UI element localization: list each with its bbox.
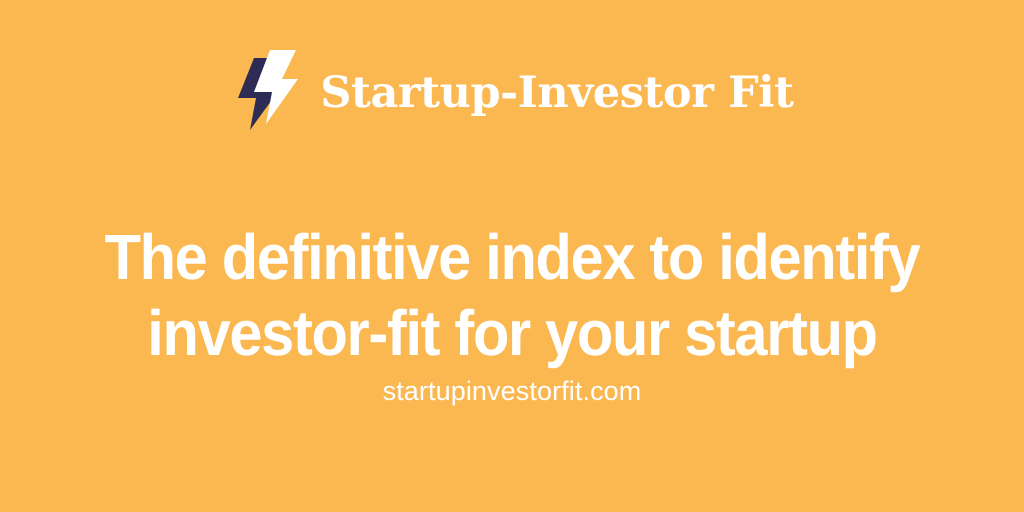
headline-line-2: investor-fit for your startup bbox=[36, 295, 988, 371]
headline-line-1: The definitive index to identify bbox=[36, 219, 988, 295]
page-title: The definitive index to identify investo… bbox=[36, 219, 988, 371]
promo-banner: Startup-Investor Fit The definitive inde… bbox=[0, 0, 1024, 512]
double-lightning-bolt-icon bbox=[230, 50, 298, 134]
brand-wordmark: Startup-Investor Fit bbox=[320, 72, 793, 115]
brand-lockup: Startup-Investor Fit bbox=[0, 48, 1024, 134]
site-url[interactable]: startupinvestorfit.com bbox=[0, 374, 1024, 408]
